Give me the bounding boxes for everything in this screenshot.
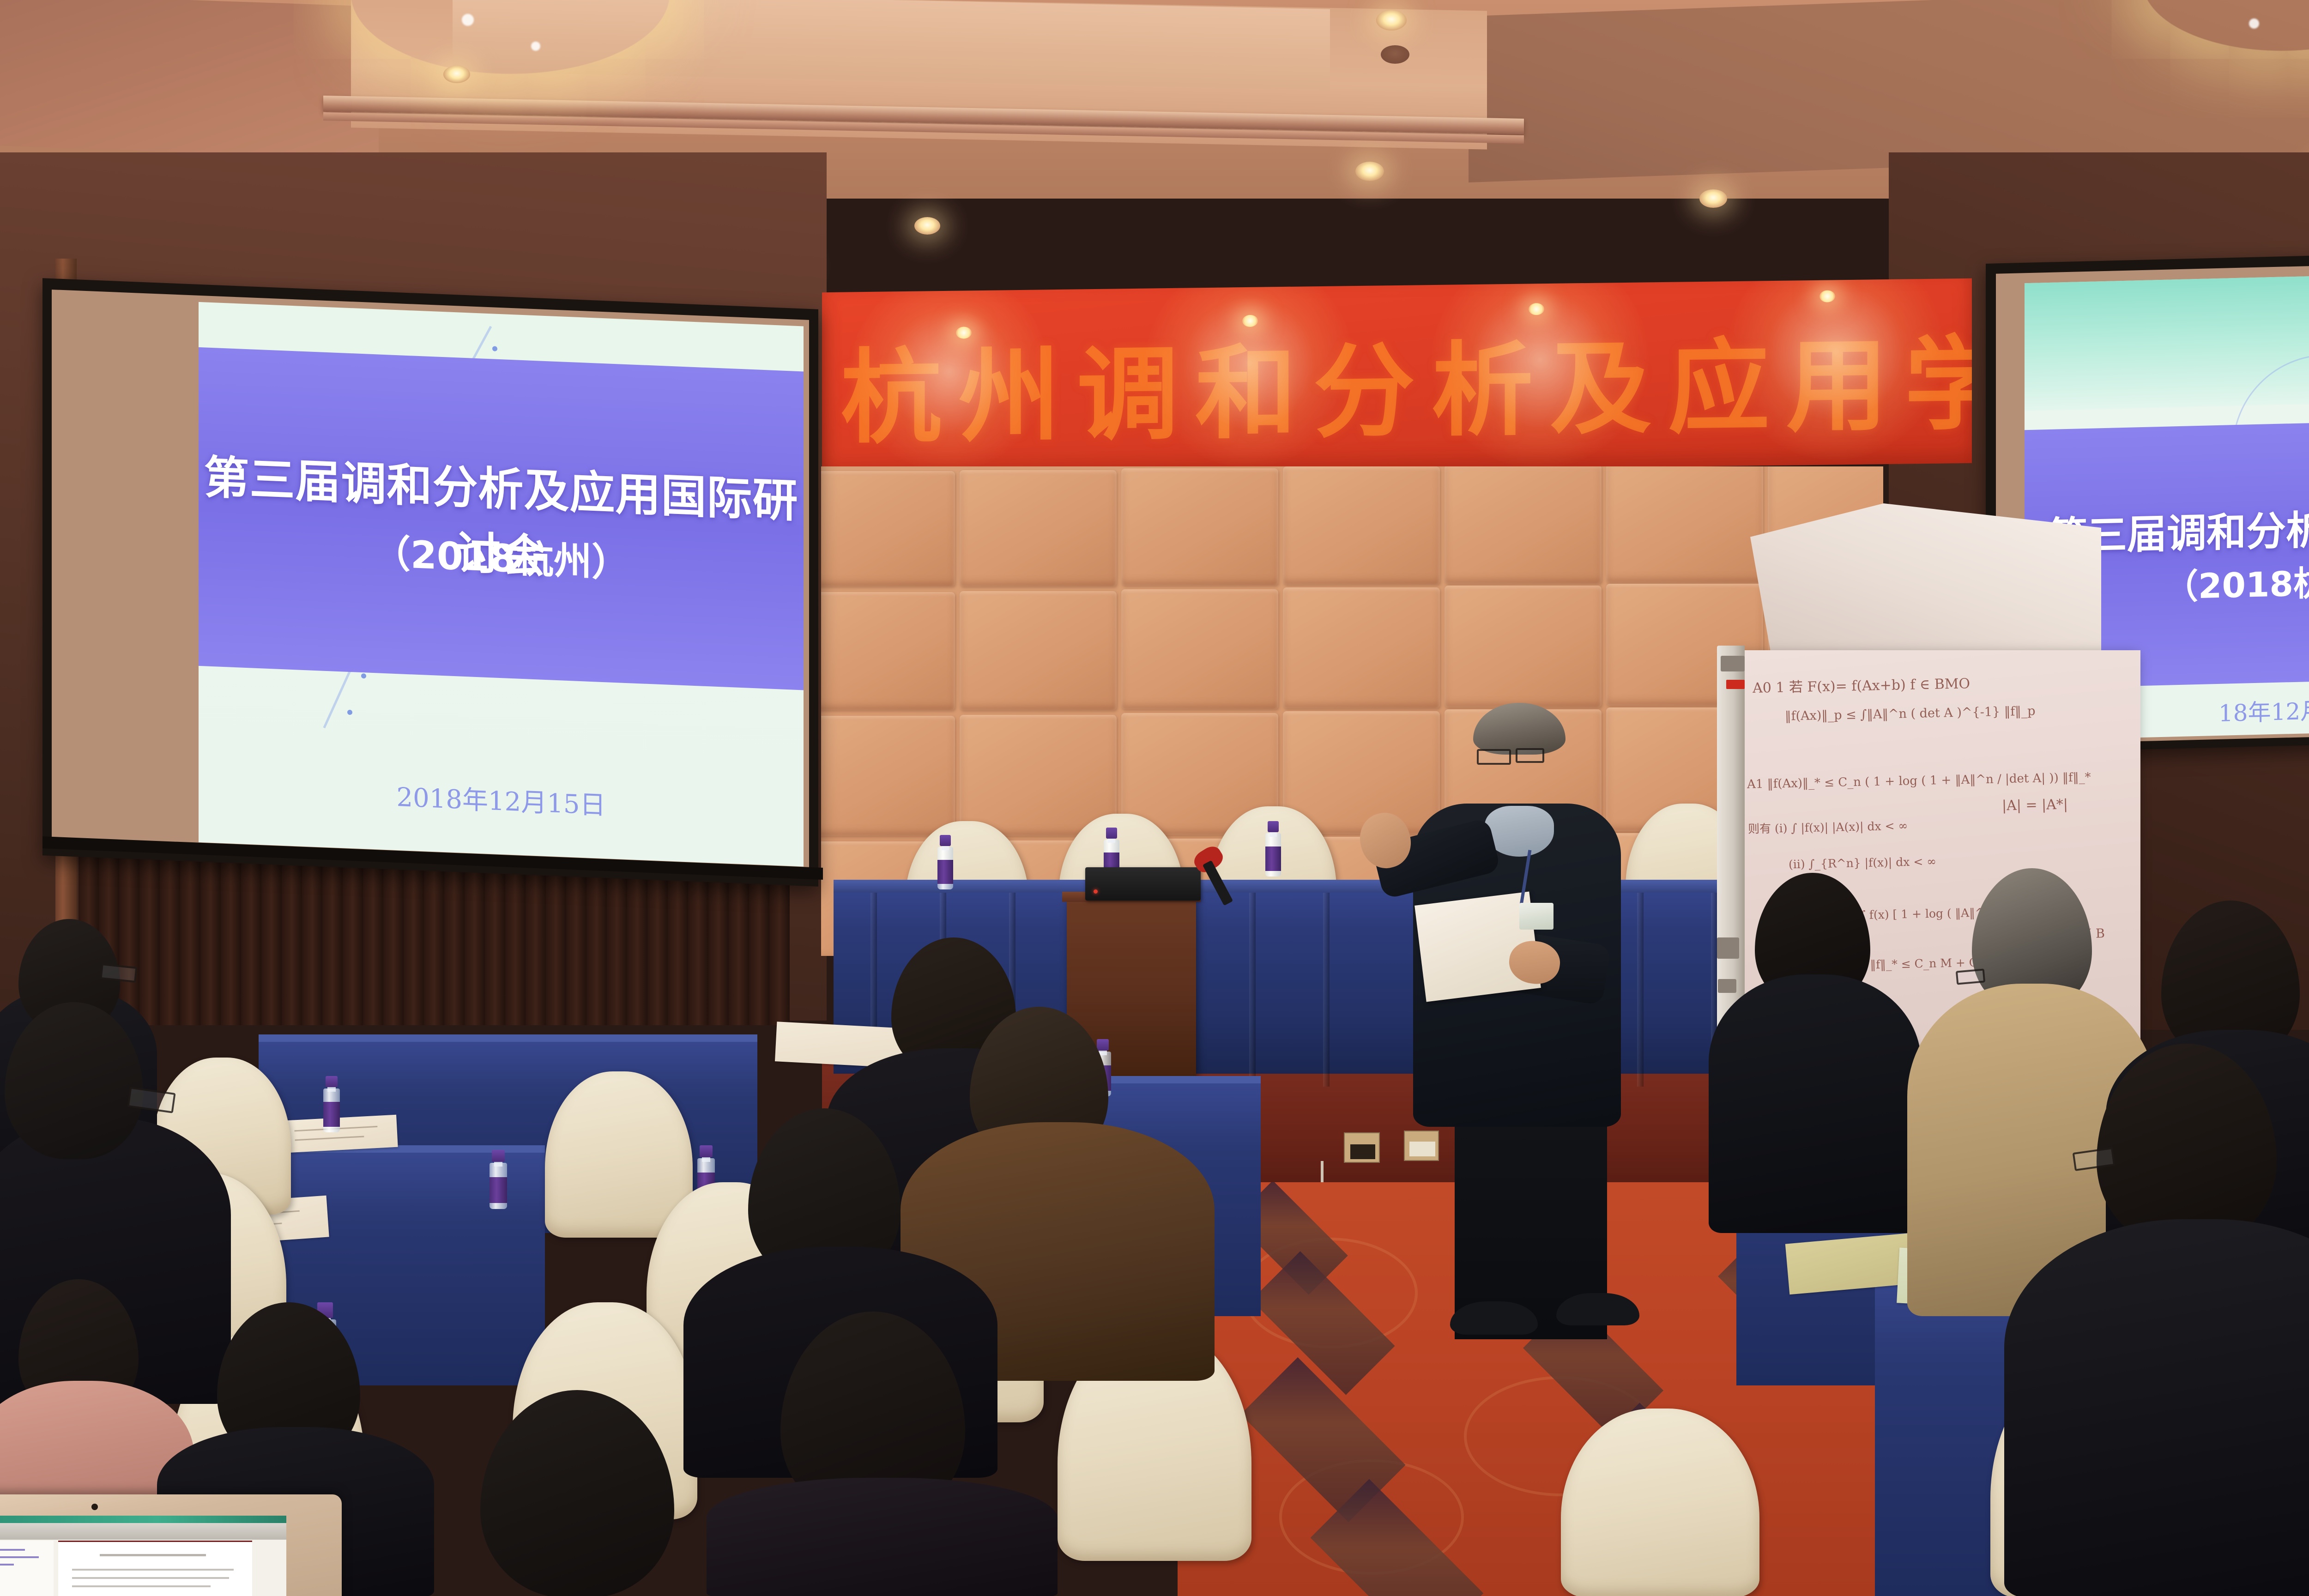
attendee-body xyxy=(2004,1219,2309,1596)
flipchart-line: |A| = |A*| xyxy=(2002,797,2068,814)
flipchart-hinge xyxy=(1718,979,1736,993)
laptop-toolbar[interactable] xyxy=(0,1523,286,1540)
flipchart-line: ‖f(Ax)‖_p ≤ ∫‖A‖^n ( det A )^{-1} ‖f‖_p xyxy=(1785,704,2036,723)
speaker-name-badge xyxy=(1519,903,1553,930)
water-bottle xyxy=(323,1076,340,1132)
water-bottle xyxy=(1265,821,1281,877)
attendee-glasses-icon xyxy=(1956,968,1985,985)
flipchart-line: A0 1 若 F(x)= f(Ax+b) f ∈ BMO xyxy=(1753,672,1971,697)
wall-outlet-2 xyxy=(1404,1130,1439,1161)
speaker-shoe-left xyxy=(1450,1301,1538,1335)
flipchart-hinge xyxy=(1717,937,1739,959)
chandelier-sparkle xyxy=(2249,18,2259,29)
flipchart-red-tab xyxy=(1726,680,1745,689)
downlight-icon xyxy=(1376,10,1407,30)
water-bottle xyxy=(937,835,953,889)
laptop-screen xyxy=(0,1516,286,1596)
downlight-icon xyxy=(914,217,940,235)
chandelier-sparkle xyxy=(462,14,474,26)
downlight-icon xyxy=(1355,162,1384,181)
speaker-glasses-icon xyxy=(1477,749,1511,765)
flipchart-clip xyxy=(1721,656,1745,671)
flipchart-line: A1 ‖f(Ax)‖_* ≤ C_n ( 1 + log ( 1 + ‖A‖^n… xyxy=(1747,770,2091,792)
water-bottle xyxy=(490,1150,507,1209)
conference-hall-photo: 杭州调和分析及应用学术 xyxy=(0,0,2309,1596)
chandelier-sparkle xyxy=(531,42,540,51)
downlight-off-icon xyxy=(1381,45,1409,64)
downlight-icon xyxy=(1699,189,1727,208)
downlight-icon xyxy=(443,66,470,83)
main-slide-date: 2018年12月15日 xyxy=(199,768,804,830)
attendee-body xyxy=(1709,974,1921,1233)
laptop-menu-bar[interactable] xyxy=(0,1516,286,1523)
main-slide: 第三届调和分析及应用国际研讨会 （2018杭州） 2018年12月15日 xyxy=(199,302,804,867)
wall-outlet-1 xyxy=(1344,1132,1380,1163)
laptop-webcam-icon xyxy=(91,1504,98,1510)
laptop-document[interactable] xyxy=(58,1541,252,1596)
laptop xyxy=(0,1494,342,1596)
laptop-side-pane[interactable] xyxy=(0,1541,54,1596)
main-projection-screen: 第三届调和分析及应用国际研讨会 （2018杭州） 2018年12月15日 xyxy=(52,290,809,874)
flipchart-line: (ii) ∫_{R^n} |f(x)| dx < ∞ xyxy=(1789,855,1937,871)
flipchart-paper-curl xyxy=(1750,503,2101,656)
stage-banner: 杭州调和分析及应用学术 xyxy=(822,278,1972,477)
av-control-box xyxy=(1085,867,1201,901)
speaker-glasses-icon xyxy=(1516,748,1544,763)
attendee-body xyxy=(707,1478,1058,1596)
handout-paper xyxy=(285,1115,398,1153)
flipchart-line: 则有 (i) ∫ |f(x)| |A(x)| dx < ∞ xyxy=(1748,816,1908,836)
ceiling-left-panel xyxy=(0,0,379,159)
speaker-shoe-right xyxy=(1556,1293,1639,1325)
